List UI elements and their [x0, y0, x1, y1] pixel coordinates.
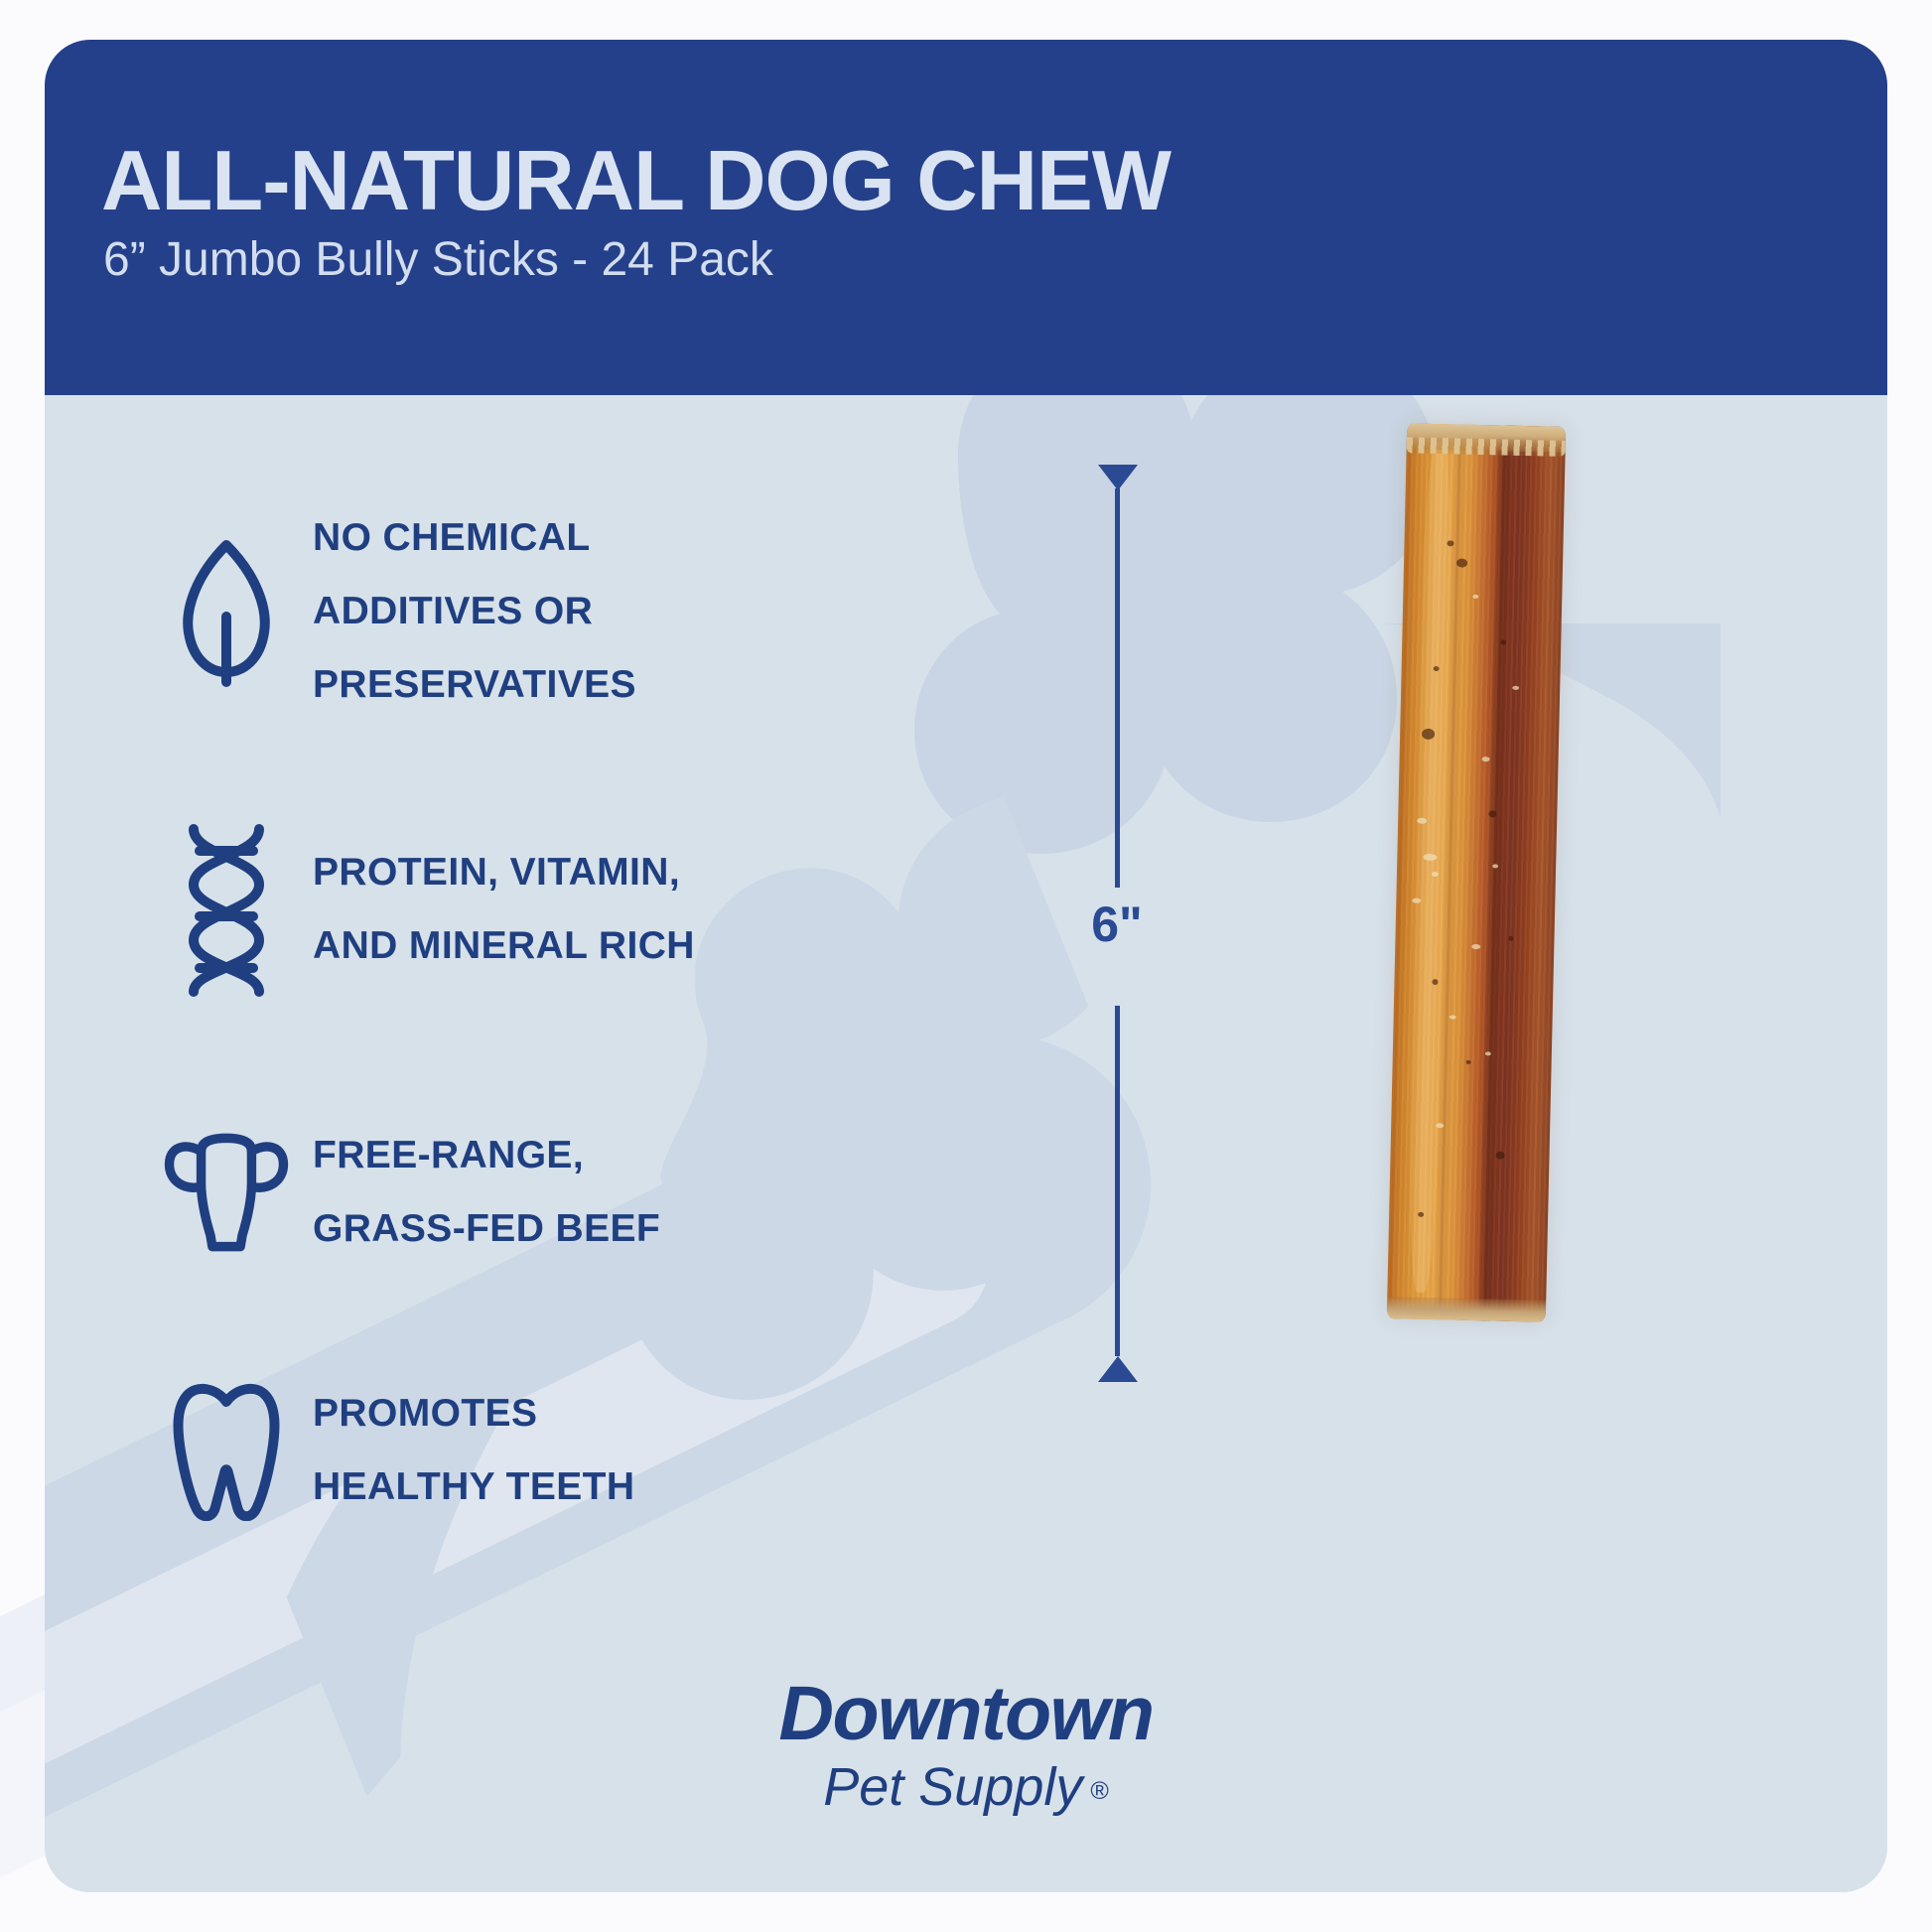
arrow-down-icon	[1098, 1356, 1138, 1382]
page-title: ALL-NATURAL DOG CHEW	[101, 139, 1171, 223]
brand-name-secondary-wrap: Pet Supply®	[45, 1760, 1887, 1814]
product-info-card: ALL-NATURAL DOG CHEW 6” Jumbo Bully Stic…	[45, 40, 1887, 1892]
feature-label: NO CHEMICAL ADDITIVES OR PRESERVATIVES	[291, 501, 636, 722]
bully-stick-photo	[1387, 423, 1566, 1321]
stick-cut-end-top	[1407, 423, 1567, 453]
feature-item-no-chemical-additives: NO CHEMICAL ADDITIVES OR PRESERVATIVES	[162, 463, 916, 760]
feature-label: PROMOTES HEALTHY TEETH	[291, 1377, 634, 1524]
measurement-line-top	[1115, 488, 1120, 888]
leaf-icon	[162, 531, 291, 692]
feature-item-protein-vitamin-mineral: PROTEIN, VITAMIN, AND MINERAL RICH	[162, 760, 916, 1058]
card-header: ALL-NATURAL DOG CHEW 6” Jumbo Bully Stic…	[45, 40, 1887, 395]
feature-label: FREE-RANGE, GRASS-FED BEEF	[291, 1119, 660, 1266]
feature-item-promotes-healthy-teeth: PROMOTES HEALTHY TEETH	[162, 1326, 916, 1575]
cow-head-icon	[162, 1127, 291, 1258]
stick-cut-end-bottom	[1387, 1297, 1546, 1322]
feature-item-free-range-grass-fed: FREE-RANGE, GRASS-FED BEEF	[162, 1058, 916, 1326]
brand-name-secondary: Pet Supply	[823, 1757, 1082, 1817]
feature-label: PROTEIN, VITAMIN, AND MINERAL RICH	[291, 836, 695, 983]
brand-name-primary: Downtown	[45, 1676, 1887, 1752]
arrow-up-icon	[1098, 465, 1138, 490]
poster-canvas: ALL-NATURAL DOG CHEW 6” Jumbo Bully Stic…	[0, 0, 1932, 1932]
dna-helix-icon	[162, 821, 291, 998]
size-measurement: 6"	[1072, 465, 1162, 1378]
tooth-icon	[162, 1380, 291, 1521]
measurement-label: 6"	[1072, 899, 1162, 949]
registered-trademark-icon: ®	[1090, 1777, 1108, 1805]
brand-logo: Downtown Pet Supply®	[45, 1676, 1887, 1814]
feature-list: NO CHEMICAL ADDITIVES OR PRESERVATIVES	[162, 463, 916, 1575]
page-subtitle: 6” Jumbo Bully Sticks - 24 Pack	[103, 236, 773, 284]
measurement-line-bottom	[1115, 1006, 1120, 1356]
card-body: NO CHEMICAL ADDITIVES OR PRESERVATIVES	[45, 395, 1887, 1892]
product-image	[1355, 395, 1613, 1360]
